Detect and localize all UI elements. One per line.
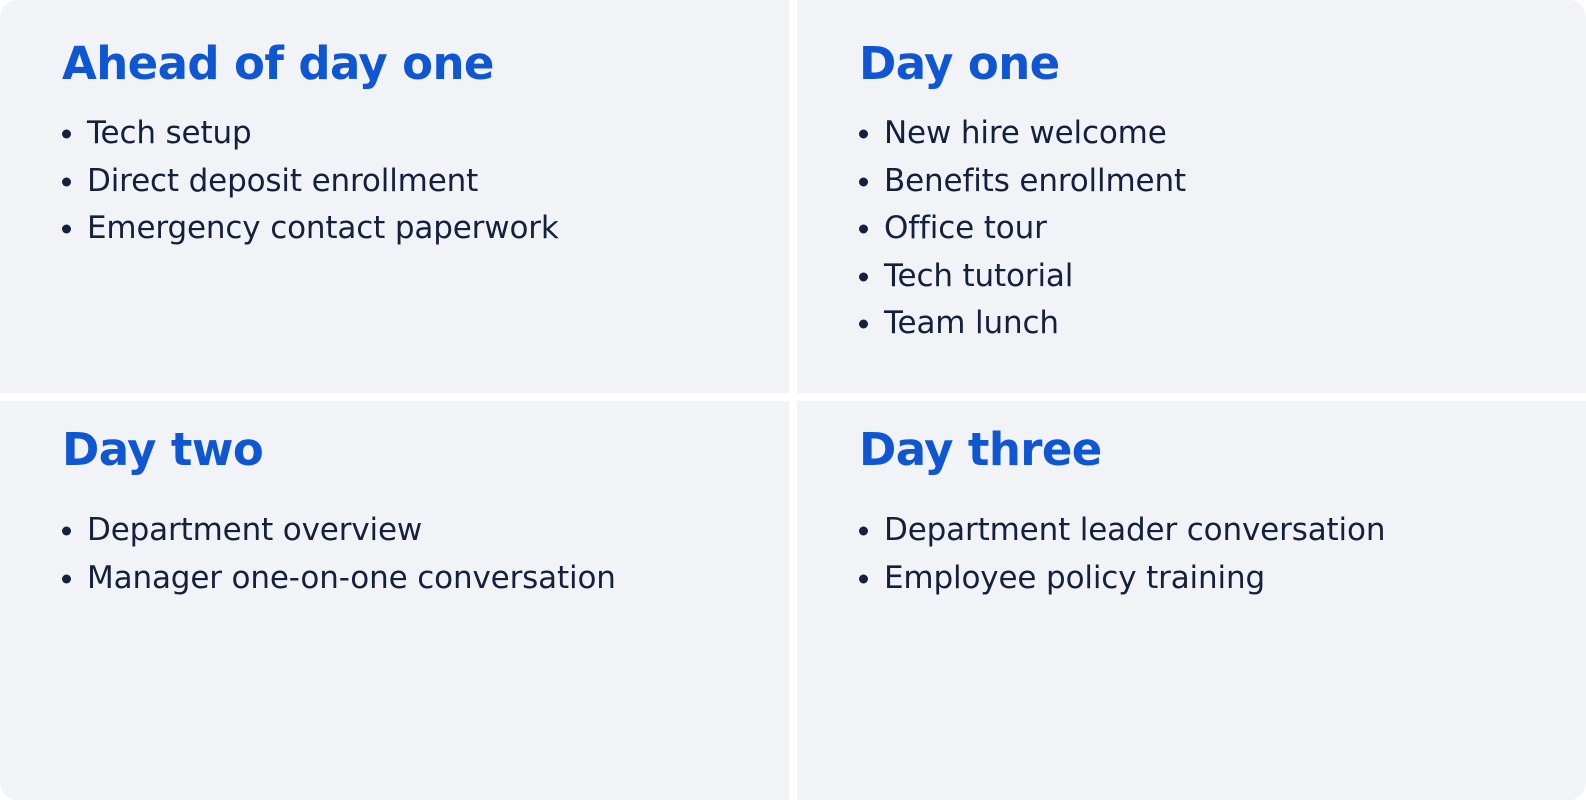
list-item-label: Direct deposit enrollment (87, 163, 478, 199)
list-item-label: New hire welcome (884, 115, 1167, 151)
list-item-label: Tech tutorial (884, 258, 1073, 294)
list-item-label: Manager one-on-one conversation (87, 560, 616, 596)
panel-ahead-of-day-one: Ahead of day one Tech setup Direct depos… (0, 0, 789, 393)
list-item-label: Emergency contact paperwork (87, 210, 559, 246)
panel-item-list: New hire welcome Benefits enrollment Off… (859, 110, 1546, 348)
panel-day-one: Day one New hire welcome Benefits enroll… (797, 0, 1586, 393)
list-item: Benefits enrollment (859, 158, 1546, 206)
list-item: Tech tutorial (859, 253, 1546, 301)
bullet-icon (62, 225, 71, 234)
panel-item-list: Department overview Manager one-on-one c… (62, 507, 749, 602)
bullet-icon (859, 272, 868, 281)
panel-day-three: Day three Department leader conversation… (797, 401, 1586, 800)
bullet-icon (859, 130, 868, 139)
panel-item-list: Tech setup Direct deposit enrollment Eme… (62, 110, 749, 253)
panel-title: Day three (859, 425, 1546, 475)
list-item: Tech setup (62, 110, 749, 158)
list-item-label: Team lunch (884, 305, 1059, 341)
list-item: Department overview (62, 507, 749, 555)
list-item: Office tour (859, 205, 1546, 253)
panel-title: Day two (62, 425, 749, 475)
list-item-label: Department leader conversation (884, 512, 1385, 548)
list-item: Manager one-on-one conversation (62, 555, 749, 603)
panel-title: Ahead of day one (62, 39, 749, 89)
list-item: Emergency contact paperwork (62, 205, 749, 253)
list-item-label: Office tour (884, 210, 1047, 246)
list-item: Employee policy training (859, 555, 1546, 603)
onboarding-timeline-grid: Ahead of day one Tech setup Direct depos… (0, 0, 1586, 800)
list-item-label: Benefits enrollment (884, 163, 1186, 199)
bullet-icon (859, 527, 868, 536)
bullet-icon (859, 574, 868, 583)
bullet-icon (62, 527, 71, 536)
list-item: Team lunch (859, 300, 1546, 348)
bullet-icon (859, 320, 868, 329)
bullet-icon (62, 177, 71, 186)
list-item-label: Employee policy training (884, 560, 1265, 596)
list-item: New hire welcome (859, 110, 1546, 158)
list-item: Direct deposit enrollment (62, 158, 749, 206)
list-item: Department leader conversation (859, 507, 1546, 555)
panel-day-two: Day two Department overview Manager one-… (0, 401, 789, 800)
panel-item-list: Department leader conversation Employee … (859, 507, 1546, 602)
list-item-label: Tech setup (87, 115, 252, 151)
list-item-label: Department overview (87, 512, 422, 548)
panel-title: Day one (859, 39, 1546, 89)
bullet-icon (62, 130, 71, 139)
bullet-icon (859, 225, 868, 234)
bullet-icon (62, 574, 71, 583)
bullet-icon (859, 177, 868, 186)
